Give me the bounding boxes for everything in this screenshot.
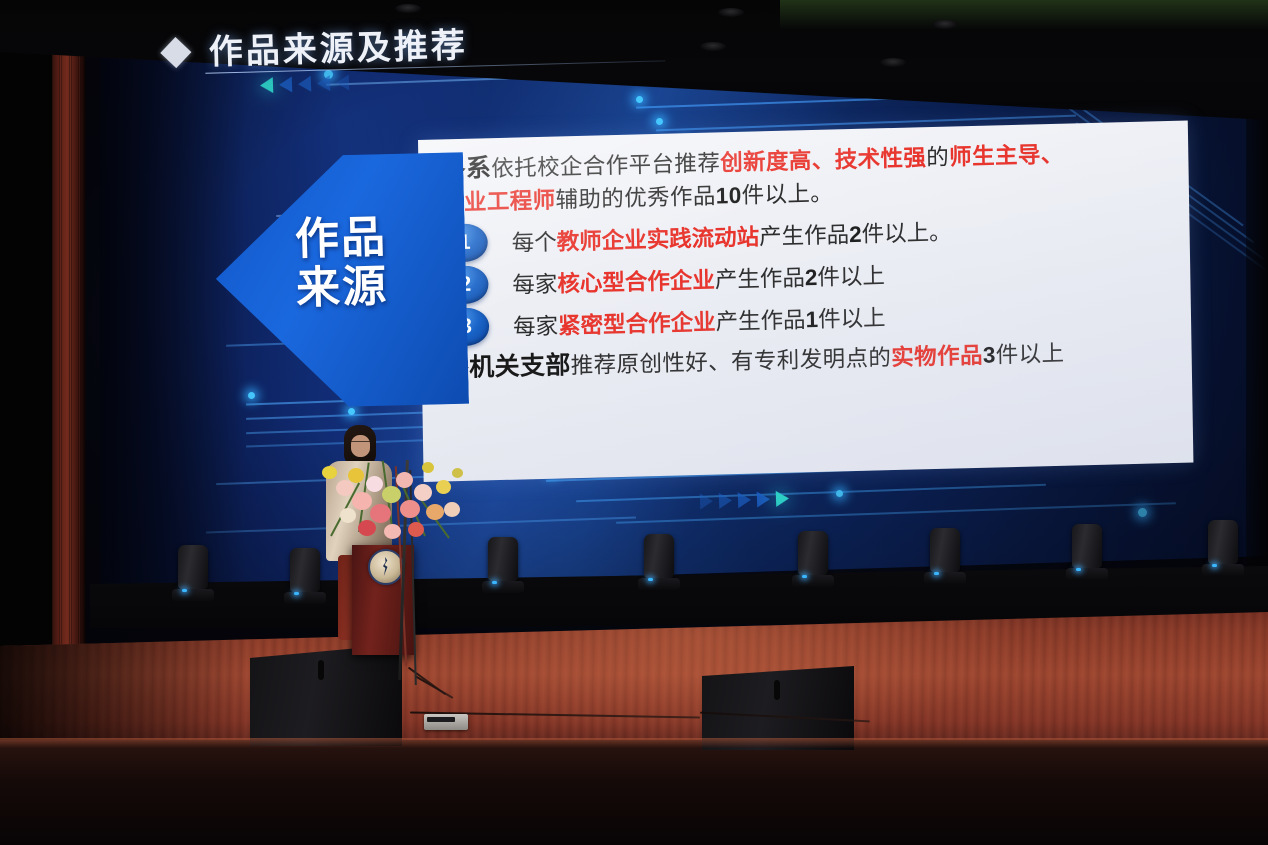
moving-head-light [1072, 524, 1108, 580]
item3-highlight: 紧密型合作企业 [558, 310, 716, 339]
slide-title-block: 作品来源及推荐 [160, 7, 722, 102]
item1-count: 2 [849, 222, 862, 247]
source-banner: 作品 来源 [213, 147, 469, 415]
para1-seg2: 的 [926, 145, 949, 171]
slide-content-panel: 各系依托校企合作平台推荐创新度高、技术性强的师生主导、 企业工程师辅助的优秀作品… [418, 121, 1193, 482]
list-item-text-1: 每个教师企业实践流动站产生作品2件以上。 [511, 215, 951, 258]
moving-head-light [1208, 520, 1244, 576]
moving-head-light [488, 537, 524, 593]
cable-junction-box [424, 714, 468, 730]
para1-count: 10 [716, 183, 742, 209]
banner-line-1: 作品 [294, 211, 455, 264]
final-highlight: 实物作品 [891, 343, 983, 370]
stage-edge-highlight [0, 738, 1268, 748]
item3-post: 产生作品 [715, 307, 805, 334]
ceiling-light-fixture [880, 58, 906, 67]
final-tail: 件以上 [996, 341, 1065, 368]
item2-tail: 件以上 [817, 263, 885, 290]
item2-highlight: 核心型合作企业 [557, 268, 715, 297]
para1-highlight-1: 创新度高、技术性强 [720, 145, 926, 175]
final-seg1: 推荐原创性好、有专利发明点的 [571, 345, 892, 378]
para1-highlight-2: 师生主导、 [949, 142, 1064, 170]
moving-head-light [930, 528, 966, 584]
item3-count: 1 [805, 307, 818, 332]
item3-tail: 件以上 [818, 305, 886, 332]
banner-text: 作品 来源 [294, 211, 456, 313]
stage-apron [0, 740, 1268, 845]
list-item-text-2: 每家核心型合作企业产生作品2件以上 [512, 258, 885, 299]
page-title: 作品来源及推荐 [208, 18, 468, 74]
para1-seg4: 件以上。 [741, 181, 833, 208]
item1-post: 产生作品 [759, 222, 849, 249]
item2-count: 2 [805, 265, 818, 290]
stage-monitor-speaker [250, 644, 402, 746]
diamond-icon [160, 37, 191, 68]
para1-seg1: 依托校企合作平台推荐 [491, 150, 720, 181]
ceiling-green-glow [780, 0, 1268, 30]
moving-head-light [798, 531, 834, 587]
stage-photograph: 作品来源及推荐 作品 来源 各系依托校企合作平台推荐创新度高、技术性强的师生主导… [0, 0, 1268, 845]
ceiling-light-fixture [395, 4, 421, 13]
item1-pre: 每个 [512, 230, 557, 256]
flower-bouquet [318, 450, 468, 560]
item2-pre: 每家 [512, 272, 557, 298]
item1-tail: 件以上。 [861, 220, 951, 247]
list-item-text-3: 每家紧密型合作企业产生作品1件以上 [513, 300, 886, 341]
item3-pre: 每家 [513, 314, 558, 340]
moving-head-light [644, 534, 680, 590]
para1-seg3: 辅助的优秀作品 [555, 184, 716, 213]
item2-post: 产生作品 [715, 265, 805, 292]
moving-head-light [178, 545, 214, 601]
final-count: 3 [983, 343, 996, 368]
ceiling-light-fixture [718, 8, 744, 17]
banner-line-2: 来源 [296, 260, 457, 313]
glasses-icon [351, 441, 370, 446]
ceiling-light-fixture [932, 20, 958, 29]
item1-highlight: 教师企业实践流动站 [557, 225, 760, 255]
stage-left-masking [0, 0, 52, 700]
